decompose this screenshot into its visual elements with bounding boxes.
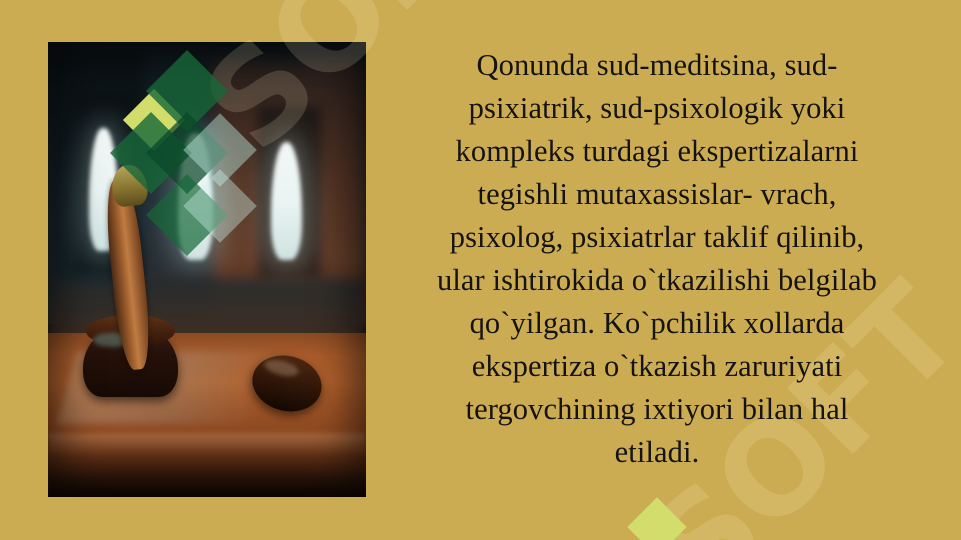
body-line: psixolog, psixiatrlar taklif qilinib, bbox=[383, 216, 931, 259]
body-line: tergovchining ixtiyori bilan hal bbox=[383, 388, 931, 431]
body-line: tegishli mutaxassislar- vrach, bbox=[383, 173, 931, 216]
watermark-diamond-bottom-icon bbox=[627, 497, 686, 540]
slide: SOFT SOFT Qonunda sud-meditsina, sud- ps… bbox=[0, 0, 961, 540]
body-line: kompleks turdagi ekspertizalarni bbox=[383, 130, 931, 173]
body-line: ekspertiza o`tkazish zaruriyati bbox=[383, 345, 931, 388]
photo-inner bbox=[48, 42, 366, 497]
body-line: psixiatrik, sud-psixologik yoki bbox=[383, 87, 931, 130]
body-line: ular ishtirokida o`tkazilishi belgilab bbox=[383, 259, 931, 302]
slide-body-text: Qonunda sud-meditsina, sud- psixiatrik, … bbox=[383, 44, 931, 474]
courtroom-gavel-photo bbox=[48, 42, 366, 497]
body-line: Qonunda sud-meditsina, sud- bbox=[383, 44, 931, 87]
desk-edge-highlight bbox=[48, 433, 366, 456]
body-line: etiladi. bbox=[383, 431, 931, 474]
body-line: qo`yilgan. Ko`pchilik xollarda bbox=[383, 302, 931, 345]
